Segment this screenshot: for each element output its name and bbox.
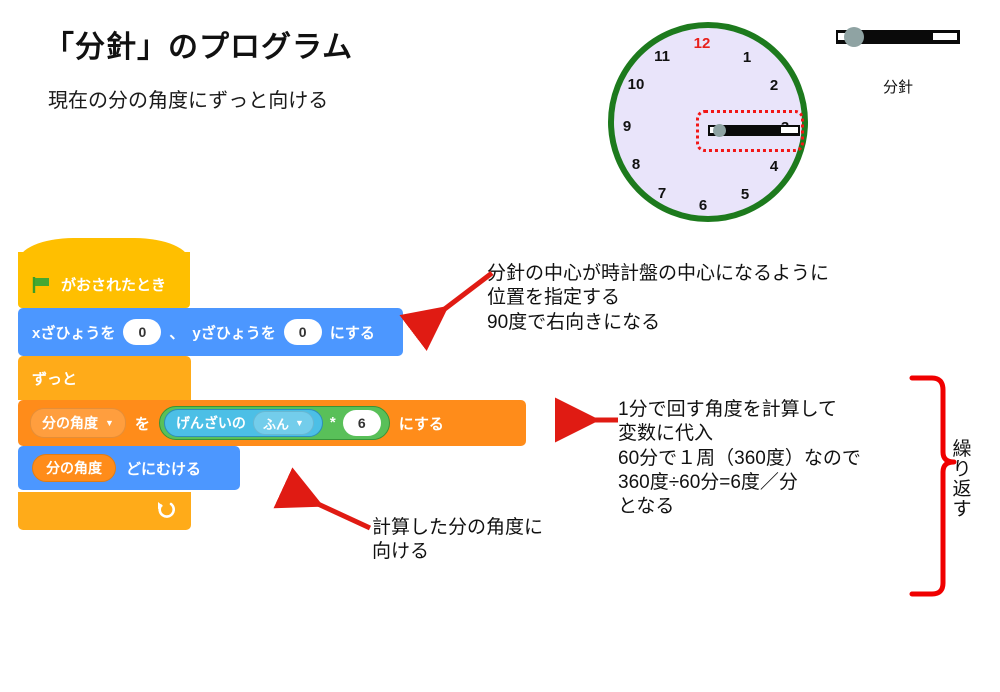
set-variable-connector: を (135, 413, 150, 434)
point-in-direction-block[interactable]: 分の角度 どにむける (18, 446, 240, 490)
forever-header[interactable]: ずっと (18, 356, 191, 400)
annotation-set-xy: 分針の中心が時計盤の中心になるように 位置を指定する 90度で右向きになる (487, 262, 829, 335)
when-flag-clicked-label: がおされたとき (61, 274, 166, 295)
clock-number-12: 12 (690, 36, 714, 51)
set-x-label: xざひょうを (32, 322, 115, 343)
green-flag-icon (32, 276, 52, 294)
clock-number-7: 7 (650, 186, 674, 201)
clock-number-2: 2 (762, 78, 786, 93)
set-xy-block[interactable]: xざひょうを 0 、 yざひょうを 0 にする (18, 308, 403, 356)
when-flag-clicked-block[interactable]: がおされたとき (18, 252, 190, 308)
multiply-symbol: * (330, 418, 336, 428)
set-variable-block[interactable]: 分の角度 ▼ を げんざいの ふん ▼ * 6 (18, 400, 526, 446)
forever-body: 分の角度 ▼ を げんざいの ふん ▼ * 6 (18, 400, 191, 492)
repeat-brace-label: 繰 り 返 す (951, 440, 973, 520)
scratch-script: がおされたとき xざひょうを 0 、 yざひょうを 0 にする ずっと 分の角度… (18, 252, 403, 530)
repeat-brace-char-4: す (951, 500, 973, 520)
repeat-brace-icon (912, 378, 954, 594)
hat-block-top (18, 238, 190, 262)
clock-face: 12 1 2 3 4 5 6 7 8 9 10 11 (608, 22, 808, 222)
minute-hand-tip-right (781, 127, 798, 133)
annotation-set-variable: 1分で回す角度を計算して 変数に代入 60分で１周（360度）なので 360度÷… (618, 398, 861, 520)
current-time-unit-dropdown[interactable]: ふん ▼ (253, 411, 314, 435)
clock-number-6: 6 (691, 198, 715, 213)
multiply-operator-block[interactable]: げんざいの ふん ▼ * 6 (159, 406, 390, 440)
repeat-brace-char-2: り (951, 460, 973, 480)
set-xy-suffix: にする (330, 322, 375, 343)
xy-separator: 、 (169, 322, 184, 343)
sprite-pivot-icon (844, 27, 864, 47)
clock-stage: 12 1 2 3 4 5 6 7 8 9 10 11 (608, 22, 820, 234)
clock-number-4: 4 (762, 159, 786, 174)
y-value-input[interactable]: 0 (284, 319, 322, 345)
variable-dropdown-label: 分の角度 (42, 413, 98, 433)
variable-dropdown[interactable]: 分の角度 ▼ (30, 408, 126, 438)
clock-number-1: 1 (735, 50, 759, 65)
chevron-down-icon: ▼ (105, 419, 114, 428)
repeat-brace-char-1: 繰 (951, 440, 973, 460)
forever-footer (18, 492, 191, 530)
forever-block[interactable]: ずっと 分の角度 ▼ を げんざいの ふん (18, 356, 191, 530)
sprite-hand-tip-right (933, 33, 957, 40)
page-subtitle: 現在の分の角度にずっと向ける (48, 84, 328, 113)
repeat-brace-char-3: 返 (951, 480, 973, 500)
forever-inner-stack: 分の角度 ▼ を げんざいの ふん ▼ * 6 (18, 400, 526, 490)
annotation-point-direction: 計算した分の角度に 向ける (372, 516, 543, 565)
set-variable-suffix: にする (399, 413, 444, 434)
chevron-down-icon: ▼ (295, 419, 304, 428)
current-time-prefix: げんざいの (176, 413, 246, 433)
xy-block-notch (34, 308, 60, 314)
multiplier-input[interactable]: 6 (343, 410, 381, 436)
minute-hand-pivot-icon (713, 124, 726, 137)
page-title: 「分針」のプログラム (44, 22, 353, 66)
clock-number-5: 5 (733, 187, 757, 202)
point-in-direction-label: どにむける (126, 458, 201, 479)
clock-number-10: 10 (624, 77, 648, 92)
current-time-unit-label: ふん (263, 414, 289, 433)
clock-number-9: 9 (615, 119, 639, 134)
sprite-thumbnail[interactable] (836, 30, 960, 44)
clock-number-11: 11 (650, 49, 674, 64)
arrow-to-set-xy-block (421, 273, 492, 327)
minute-hand-sprite[interactable] (708, 125, 800, 136)
forever-label: ずっと (32, 368, 77, 389)
sprite-name-label: 分針 (836, 76, 960, 97)
current-time-block[interactable]: げんざいの ふん ▼ (164, 409, 323, 437)
clock-number-8: 8 (624, 157, 648, 172)
x-value-input[interactable]: 0 (123, 319, 161, 345)
set-y-label: yざひょうを (192, 322, 275, 343)
loop-arrow-icon (155, 500, 175, 520)
angle-variable-pill[interactable]: 分の角度 (32, 454, 116, 482)
point-block-notch (34, 446, 60, 452)
